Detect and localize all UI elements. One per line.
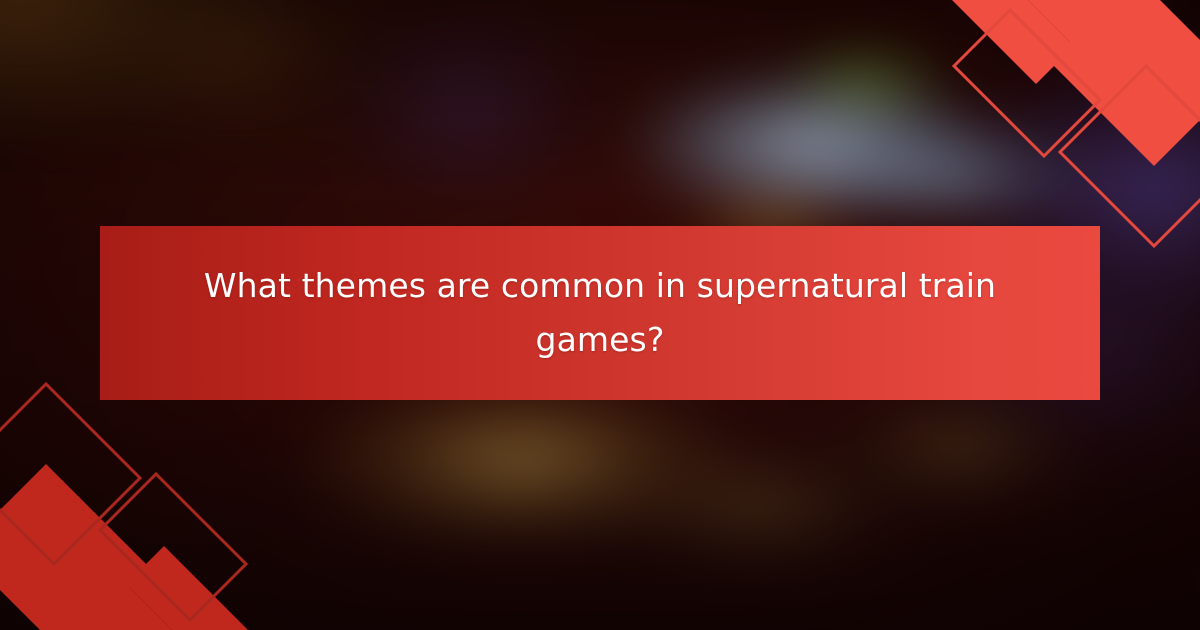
question-banner: What themes are common in supernatural t… [100,226,1100,400]
question-title: What themes are common in supernatural t… [156,259,1044,368]
question-card: What themes are common in supernatural t… [0,0,1200,630]
